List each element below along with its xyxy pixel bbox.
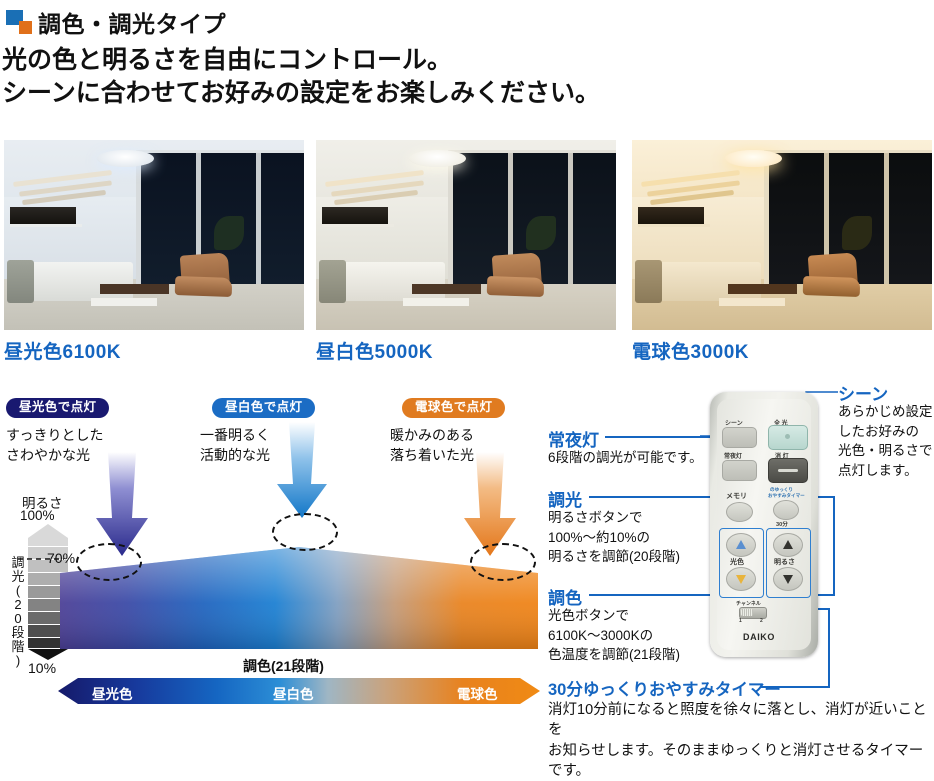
color-down-button[interactable] <box>726 567 756 591</box>
photo-daywhite <box>316 140 616 330</box>
photo-caption-bulbcolor: 電球色3000K <box>632 337 749 364</box>
tick-10: 10% <box>28 660 56 676</box>
memory-button[interactable] <box>726 502 753 522</box>
remote-label-ch2: 2 <box>760 618 763 624</box>
callout-timer-body: 消灯10分前になると照度を徐々に落とし、消灯が近いことを お知らせします。そのま… <box>548 700 932 781</box>
badge-bulbcolor: 電球色で点灯 <box>402 398 505 418</box>
remote-label-timer-min: 30分 <box>776 520 788 528</box>
photo-caption-daylight: 昼光色6100K <box>4 337 121 364</box>
photo-daylight-scene <box>4 140 304 330</box>
callout-scene-body: あらかじめ設定 したお好みの 光色・明るさで 点灯します。 <box>838 402 934 480</box>
callout-timer-title: 30分ゆっくりおやすみタイマー <box>548 676 781 700</box>
brightness-label-line2: 100% <box>20 508 55 523</box>
timer-l1: 消灯10分前になると照度を徐々に落とし、消灯が近いことを <box>548 700 932 741</box>
full-light-button[interactable] <box>768 425 808 450</box>
remote-brand: DAIKO <box>743 632 775 642</box>
scene-l4: 点灯します。 <box>838 461 934 481</box>
tone-label-mid: 昼白色 <box>273 683 314 703</box>
header-mark-icon <box>6 10 32 34</box>
marker-daylight <box>76 543 142 581</box>
callout-night-light-body: 6段階の調光が可能です。 <box>548 448 703 468</box>
tone-l3: 色温度を調節(21段階) <box>548 645 680 665</box>
sleep-timer-button[interactable] <box>773 500 799 520</box>
page-title: 調色・調光タイプ <box>38 5 226 39</box>
leader-timer-v <box>828 608 830 688</box>
tick-70-leader <box>18 556 64 562</box>
leader-timer-h <box>760 686 830 688</box>
photo-bulbcolor <box>632 140 932 330</box>
photo-caption-daywhite: 昼白色5000K <box>316 337 433 364</box>
timer-l2: お知らせします。そのままゆっくりと消灯させるタイマーです。 <box>548 741 932 781</box>
tone-l2: 6100K〜3000Kの <box>548 626 680 646</box>
dimming-l1: 明るさボタンで <box>548 508 680 528</box>
lede-line-2: シーンに合わせてお好みの設定をお楽しみください。 <box>2 77 762 110</box>
color-up-button[interactable] <box>726 533 756 557</box>
lede-line-1: 光の色と明るさを自由にコントロール。 <box>2 44 762 77</box>
tone-l1: 光色ボタンで <box>548 606 680 626</box>
lede-text: 光の色と明るさを自由にコントロール。 シーンに合わせてお好みの設定をお楽しみくだ… <box>2 44 762 110</box>
tone-label-right: 電球色 <box>457 683 498 703</box>
badge-daywhite: 昼白色で点灯 <box>212 398 315 418</box>
callout-dimming-body: 明るさボタンで 100%〜約10%の 明るさを調節(20段階) <box>548 508 680 567</box>
marker-daywhite <box>272 513 338 551</box>
scene-l1: あらかじめ設定 <box>838 402 934 422</box>
desc-daylight-l2: さわやかな光 <box>6 446 103 466</box>
axis-caption: 調色(21段階) <box>243 656 324 676</box>
remote-label-channel: チャンネル <box>736 600 761 607</box>
leader-tone-h <box>589 594 717 596</box>
night-light-button[interactable] <box>722 460 757 481</box>
marker-bulbcolor <box>470 543 536 581</box>
scene-l2: したお好みの <box>838 422 934 442</box>
callout-tone-body: 光色ボタンで 6100K〜3000Kの 色温度を調節(21段階) <box>548 606 680 665</box>
remote-label-scene: シーン <box>725 418 743 427</box>
tone-label-left: 昼光色 <box>92 683 133 703</box>
dimming-vertical-label: 調 光 ( 2 0 段 階 ) <box>8 556 28 668</box>
leader-night-light-h <box>605 436 710 438</box>
photo-bulbcolor-scene <box>632 140 932 330</box>
remote-label-memory: メモリ <box>726 491 747 501</box>
desc-daywhite-l1: 一番明るく <box>200 426 270 446</box>
brightness-down-button[interactable] <box>773 567 803 591</box>
remote-label-ch1: 1 <box>739 618 742 624</box>
desc-daywhite: 一番明るく 活動的な光 <box>200 426 270 466</box>
dimming-l3: 明るさを調節(20段階) <box>548 547 680 567</box>
scene-button[interactable] <box>722 427 757 448</box>
dimming-l2: 100%〜約10%の <box>548 528 680 548</box>
brightness-up-button[interactable] <box>773 533 803 557</box>
badge-daylight: 昼光色で点灯 <box>6 398 109 418</box>
photo-daywhite-scene <box>316 140 616 330</box>
light-off-button[interactable] <box>768 458 808 483</box>
desc-daylight: すっきりとした さわやかな光 <box>6 426 103 466</box>
desc-bulb-l1: 暖かみのある <box>390 426 474 446</box>
remote-label-timer-l2: おやすみタイマー <box>768 493 805 499</box>
arrow-daywhite <box>272 422 336 522</box>
remote-control[interactable]: シーン 全 光 常夜灯 消 灯 メモリ のゆっくり おやすみタイマー 30分 光… <box>710 392 818 657</box>
remote-label-night: 常夜灯 <box>724 451 742 460</box>
photo-daylight <box>4 140 304 330</box>
remote-label-color: 光色 <box>730 557 744 567</box>
desc-daylight-l1: すっきりとした <box>6 426 103 446</box>
scene-l3: 光色・明るさで <box>838 441 934 461</box>
leader-dimming-v <box>833 496 835 596</box>
remote-label-brightness: 明るさ <box>774 557 795 567</box>
desc-daywhite-l2: 活動的な光 <box>200 446 270 466</box>
